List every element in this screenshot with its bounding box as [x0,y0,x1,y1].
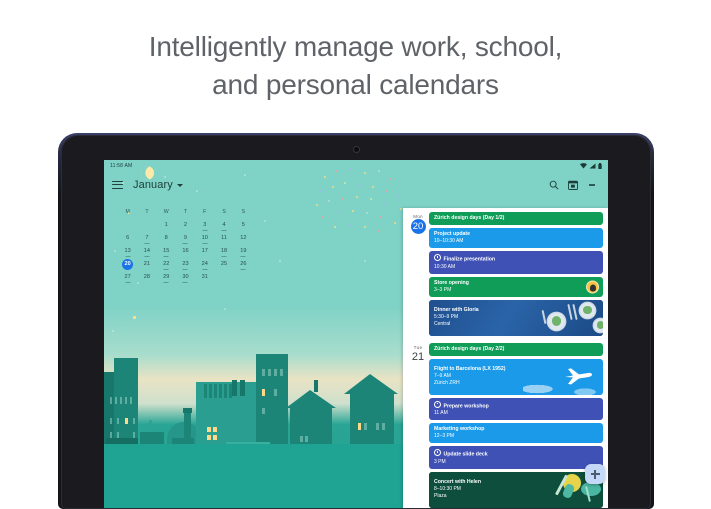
event-indicator-dot [183,269,188,270]
caret-down-icon[interactable] [177,184,183,187]
calendar-day-31[interactable]: 31 [195,271,214,284]
page-title: Intelligently manage work, school, and p… [0,28,711,104]
calendar-day-number: 23 [182,261,188,267]
calendar-day-number: 5 [242,222,245,228]
page-title[interactable]: January [133,179,173,191]
tablet-device: 11:58 AM January [62,136,650,508]
calendar-day-17[interactable]: 17 [195,245,214,258]
task-clock-icon [434,449,441,456]
agenda-day-number: 21 [407,350,429,364]
calendar-day-3[interactable]: 3 [195,219,214,232]
calendar-day-9[interactable]: 9 [176,232,195,245]
calendar-day-number: 16 [182,248,188,254]
calendar-day-7[interactable]: 7 [137,232,156,245]
event-time: 10–10:30 AM [434,238,598,245]
status-icons [580,163,602,169]
task-clock-icon [434,254,441,261]
calendar-day-number: 7 [145,235,148,241]
event-text-wrap: Project update10–10:30 AM [434,231,598,245]
calendar-day-number: 15 [163,248,169,254]
event-location: Zürich ZRH [434,380,598,387]
calendar-day-19[interactable]: 19 [234,245,253,258]
calendar-day-27[interactable]: 27 [118,271,137,284]
calendar-day-number: 2 [184,222,187,228]
event-text-wrap: Zürich design days (Day 2/2) [434,346,598,353]
event-time: 8–10:30 PM [434,486,598,493]
calendar-day-number: 29 [163,274,169,280]
mini-month-calendar[interactable]: M T W T F S S 12345678910111213141516171… [118,206,253,284]
calendar-day-empty [214,271,233,284]
battery-icon [598,163,602,169]
event-title: Dinner with Gloria [434,307,598,314]
agenda-today-badge: 20 [411,219,426,234]
event-time: 11 AM [434,410,598,417]
calendar-week-row: 13141516171819 [118,245,253,258]
calendar-day-30[interactable]: 30 [176,271,195,284]
calendar-day-29[interactable]: 29 [157,271,176,284]
event-location: Plaza [434,493,598,500]
calendar-day-18[interactable]: 18 [214,245,233,258]
event-title: Update slide deck [434,449,598,459]
weekday-label: W [157,206,176,219]
agenda-event-chip[interactable]: Finalize presentation10:30 AM [429,251,603,274]
calendar-day-empty [234,271,253,284]
agenda-day-list: Mon20Zürich design days (Day 1/2)Project… [403,208,608,508]
calendar-day-number: 12 [240,235,246,241]
tablet-screen: 11:58 AM January [104,160,608,508]
overflow-menu-icon[interactable] [584,177,600,193]
task-clock-icon [434,401,441,408]
calendar-day-number: 25 [221,261,227,267]
calendar-day-number: 13 [125,248,131,254]
event-text-wrap: Finalize presentation10:30 AM [434,254,598,271]
calendar-day-26[interactable]: 26 [234,258,253,271]
calendar-day-number: 9 [184,235,187,241]
event-indicator-dot [202,230,207,231]
mini-calendar-weeks: 1234567891011121314151617181920212223242… [118,219,253,284]
calendar-day-number: 22 [163,261,169,267]
calendar-day-number: 8 [165,235,168,241]
calendar-day-number: 3 [203,222,206,228]
calendar-day-number: 1 [165,222,168,228]
event-text-wrap: Update slide deck3 PM [434,449,598,466]
agenda-day-block: Mon20Zürich design days (Day 1/2)Project… [403,208,608,339]
calendar-day-4[interactable]: 4 [214,219,233,232]
calendar-day-10[interactable]: 10 [195,232,214,245]
event-indicator-dot [183,282,188,283]
agenda-event-chip[interactable]: Flight to Barcelona (LX 1952)7–9 AMZüric… [429,359,603,395]
status-time: 11:58 AM [110,163,132,169]
event-indicator-dot [144,243,149,244]
event-text-wrap: Concert with Helen8–10:30 PMPlaza [434,479,598,500]
agenda-day-block: Tue21Zürich design days (Day 2/2)Flight … [403,339,608,509]
calendar-day-empty [137,219,156,232]
calendar-day-14[interactable]: 14 [137,245,156,258]
calendar-day-number: 27 [125,274,131,280]
calendar-day-empty [118,219,137,232]
agenda-event-chip[interactable]: Dinner with Gloria5:30–9 PMCentral [429,300,603,336]
weekday-label: T [137,206,156,219]
calendar-day-21[interactable]: 21 [137,258,156,271]
hamburger-menu-icon[interactable] [112,181,123,190]
event-title: Prepare workshop [434,401,598,411]
calendar-day-number: 31 [202,274,208,280]
event-title: Flight to Barcelona (LX 1952) [434,366,598,373]
calendar-week-row: 12345 [118,219,253,232]
agenda-day-number: 20 [407,219,429,234]
calendar-day-number: 10 [202,235,208,241]
calendar-day-5[interactable]: 5 [234,219,253,232]
agenda-event-chip[interactable]: Update slide deck3 PM [429,446,603,469]
calendar-week-row: 6789101112 [118,232,253,245]
promo-screenshot: Intelligently manage work, school, and p… [0,0,711,500]
weekday-label: M [118,206,137,219]
wifi-icon [580,163,587,169]
agenda-event-column: Zürich design days (Day 1/2)Project upda… [429,212,603,339]
event-location: Central [434,321,598,328]
calendar-day-number: 14 [144,248,150,254]
today-calendar-icon[interactable] [565,177,581,193]
weekday-label: T [176,206,195,219]
calendar-day-number: 4 [222,222,225,228]
event-indicator-dot [164,269,169,270]
agenda-event-chip[interactable]: Prepare workshop11 AM [429,398,603,421]
calendar-day-28[interactable]: 28 [137,271,156,284]
event-text-wrap: Zürich design days (Day 1/2) [434,215,598,222]
weekday-label: F [195,206,214,219]
agenda-event-chip[interactable]: Zürich design days (Day 2/2) [429,343,603,356]
calendar-day-15[interactable]: 15 [157,245,176,258]
status-bar: 11:58 AM [104,160,608,172]
agenda-event-column: Zürich design days (Day 2/2)Flight to Ba… [429,343,603,509]
event-title: Finalize presentation [434,254,598,264]
calendar-day-number: 18 [221,248,227,254]
event-indicator-dot [164,282,169,283]
event-indicator-dot [222,230,227,231]
agenda-date-column: Tue21 [407,343,429,509]
calendar-day-number: 26 [240,261,246,267]
calendar-day-number: 30 [182,274,188,280]
calendar-week-row: 2728293031 [118,271,253,284]
calendar-day-1[interactable]: 1 [157,219,176,232]
event-indicator-dot [144,256,149,257]
agenda-event-chip[interactable]: Store opening3–3 PM [429,277,603,297]
calendar-day-number: 17 [202,248,208,254]
event-indicator-dot [125,256,130,257]
event-time: 10:30 AM [434,264,598,271]
calendar-day-number: 24 [202,261,208,267]
calendar-day-20[interactable]: 20 [118,258,137,271]
agenda-event-chip[interactable]: Marketing workshop12–3 PM [429,423,603,443]
event-title: Concert with Helen [434,479,598,486]
event-text-wrap: Prepare workshop11 AM [434,401,598,418]
event-time: 12–3 PM [434,433,598,440]
event-time: 3–3 PM [434,287,598,294]
calendar-day-16[interactable]: 16 [176,245,195,258]
event-time: 7–9 AM [434,373,598,380]
headline-line-2: and personal calendars [0,66,711,104]
event-time: 5:30–9 PM [434,314,598,321]
create-event-button[interactable] [585,464,605,484]
calendar-day-13[interactable]: 13 [118,245,137,258]
event-indicator-dot [222,256,227,257]
event-title: Zürich design days (Day 2/2) [434,346,598,353]
event-text-wrap: Marketing workshop12–3 PM [434,426,598,440]
event-time: 3 PM [434,459,598,466]
search-icon[interactable] [546,177,562,193]
event-text-wrap: Store opening3–3 PM [434,280,598,294]
event-title: Store opening [434,280,598,287]
calendar-day-12[interactable]: 12 [234,232,253,245]
calendar-day-25[interactable]: 25 [214,258,233,271]
weekday-label: S [234,206,253,219]
event-indicator-dot [164,256,169,257]
calendar-day-number: 21 [144,261,150,267]
event-indicator-dot [241,269,246,270]
event-title: Project update [434,231,598,238]
weekday-header-row: M T W T F S S [118,206,253,219]
event-indicator-dot [202,243,207,244]
calendar-day-number: 6 [126,235,129,241]
headline-line-1: Intelligently manage work, school, [149,31,562,62]
event-title: Zürich design days (Day 1/2) [434,215,598,222]
agenda-panel[interactable]: Mon20Zürich design days (Day 1/2)Project… [403,208,608,508]
calendar-day-23[interactable]: 23 [176,258,195,271]
calendar-day-number: 20 [122,259,133,270]
agenda-event-chip[interactable]: Project update10–10:30 AM [429,228,603,248]
event-text-wrap: Flight to Barcelona (LX 1952)7–9 AMZüric… [434,366,598,387]
front-camera-icon [354,147,359,152]
app-toolbar: January [104,174,608,196]
agenda-event-chip[interactable]: Concert with Helen8–10:30 PMPlaza [429,472,603,508]
calendar-day-22[interactable]: 22 [157,258,176,271]
event-title: Marketing workshop [434,426,598,433]
agenda-event-chip[interactable]: Zürich design days (Day 1/2) [429,212,603,225]
event-indicator-dot [183,243,188,244]
calendar-day-8[interactable]: 8 [157,232,176,245]
calendar-day-24[interactable]: 24 [195,258,214,271]
event-indicator-dot [241,256,246,257]
calendar-week-row: 20212223242526 [118,258,253,271]
calendar-day-number: 19 [240,248,246,254]
signal-icon [589,163,596,169]
calendar-day-2[interactable]: 2 [176,219,195,232]
event-indicator-dot [202,269,207,270]
calendar-day-6[interactable]: 6 [118,232,137,245]
event-text-wrap: Dinner with Gloria5:30–9 PMCentral [434,307,598,328]
agenda-date-column: Mon20 [407,212,429,339]
calendar-day-number: 11 [221,235,227,241]
calendar-day-number: 28 [144,274,150,280]
event-indicator-dot [125,282,130,283]
weekday-label: S [214,206,233,219]
calendar-day-11[interactable]: 11 [214,232,233,245]
